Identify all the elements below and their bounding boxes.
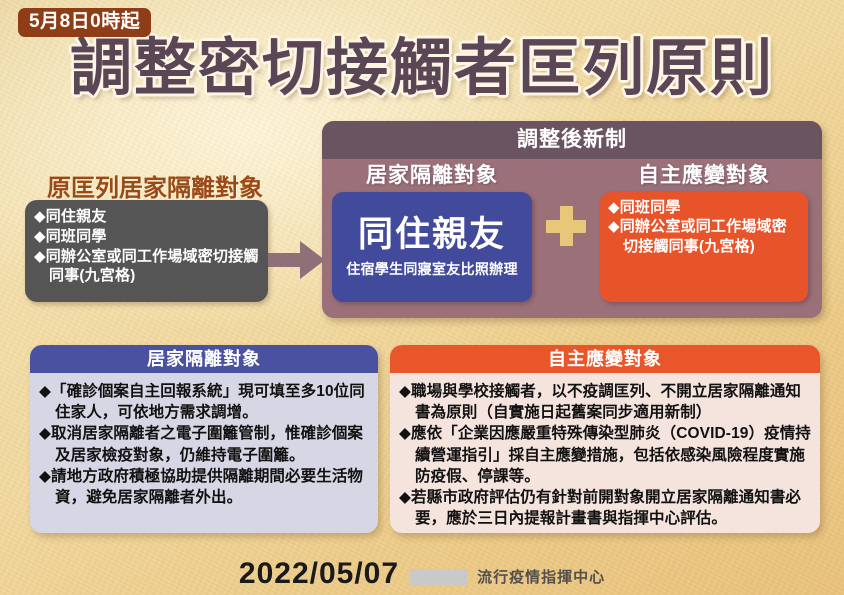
quarantine-detail-item: ◆「確診個案自主回報系統」現可填至多10位同住家人，可依地方需求調增。 bbox=[39, 381, 369, 423]
selfresponse-target-item: ◆同辦公室或同工作場域密切接觸同事(九宮格) bbox=[608, 217, 800, 255]
selfresponse-column-heading: 自主應變對象 bbox=[600, 163, 808, 189]
page-title: 調整密切接觸者匡列原則 bbox=[0, 36, 844, 101]
plus-icon bbox=[546, 206, 586, 246]
quarantine-target-sublabel: 住宿學生同寢室友比照辦理 bbox=[346, 259, 518, 279]
publish-date: 2022/05/07 bbox=[239, 559, 399, 589]
new-rule-panel: 調整後新制 居家隔離對象 同住親友 住宿學生同寢室友比照辦理 自主應變對象 ◆同… bbox=[322, 121, 822, 318]
quarantine-detail-item: ◆請地方政府積極協助提供隔離期間必要生活物資，避免居家隔離者外出。 bbox=[39, 466, 369, 508]
new-rule-panel-title: 調整後新制 bbox=[322, 121, 822, 159]
footer: 2022/05/07 流行疫情指揮中心 bbox=[0, 559, 844, 589]
quarantine-detail-item: ◆取消居家隔離者之電子圍籬管制，惟確診個案及居家檢疫對象，仍維持電子圍籬。 bbox=[39, 423, 369, 465]
effective-date-badge: 5月8日0時起 bbox=[18, 8, 151, 37]
right-arrow-icon bbox=[268, 240, 326, 280]
quarantine-target-label: 同住親友 bbox=[358, 216, 506, 255]
selfresponse-detail-item: ◆若縣市政府評估仍有針對前開對象開立居家隔離通知書必要，應於三日內提報計畫書與指… bbox=[399, 487, 811, 529]
quarantine-details-body: ◆「確診個案自主回報系統」現可填至多10位同住家人，可依地方需求調增。 ◆取消居… bbox=[30, 373, 378, 517]
quarantine-details-panel: 居家隔離對象 ◆「確診個案自主回報系統」現可填至多10位同住家人，可依地方需求調… bbox=[30, 345, 378, 533]
infographic-poster: 5月8日0時起 調整密切接觸者匡列原則 原匡列居家隔離對象 ◆同住親友 ◆同班同… bbox=[0, 0, 844, 595]
old-rule-box: ◆同住親友 ◆同班同學 ◆同辦公室或同工作場域密切接觸同事(九宮格) bbox=[25, 200, 268, 302]
organization-name: 流行疫情指揮中心 bbox=[477, 566, 605, 587]
quarantine-target-card: 同住親友 住宿學生同寢室友比照辦理 bbox=[332, 192, 532, 302]
redacted-logo-block bbox=[409, 569, 467, 586]
selfresponse-target-item: ◆同班同學 bbox=[608, 198, 800, 217]
selfresponse-details-body: ◆職場與學校接觸者，以不疫調匡列、不開立居家隔離通知書為原則（自實施日起舊案同步… bbox=[390, 373, 820, 533]
new-rule-selfresponse-column: 自主應變對象 ◆同班同學 ◆同辦公室或同工作場域密切接觸同事(九宮格) bbox=[600, 163, 808, 308]
old-rule-heading: 原匡列居家隔離對象 bbox=[30, 168, 280, 203]
quarantine-column-heading: 居家隔離對象 bbox=[332, 163, 532, 189]
old-rule-item: ◆同住親友 bbox=[34, 207, 259, 227]
selfresponse-detail-item: ◆職場與學校接觸者，以不疫調匡列、不開立居家隔離通知書為原則（自實施日起舊案同步… bbox=[399, 381, 811, 423]
new-rule-quarantine-column: 居家隔離對象 同住親友 住宿學生同寢室友比照辦理 bbox=[332, 163, 532, 308]
old-rule-item: ◆同班同學 bbox=[34, 227, 259, 247]
selfresponse-target-card: ◆同班同學 ◆同辦公室或同工作場域密切接觸同事(九宮格) bbox=[600, 192, 808, 302]
old-rule-item: ◆同辦公室或同工作場域密切接觸同事(九宮格) bbox=[34, 247, 259, 287]
quarantine-details-heading: 居家隔離對象 bbox=[30, 345, 378, 373]
selfresponse-details-heading: 自主應變對象 bbox=[390, 345, 820, 373]
selfresponse-detail-item: ◆應依「企業因應嚴重特殊傳染型肺炎（COVID-19）疫情持續營運指引」採自主應… bbox=[399, 423, 811, 487]
plus-column bbox=[540, 163, 592, 308]
selfresponse-details-panel: 自主應變對象 ◆職場與學校接觸者，以不疫調匡列、不開立居家隔離通知書為原則（自實… bbox=[390, 345, 820, 533]
